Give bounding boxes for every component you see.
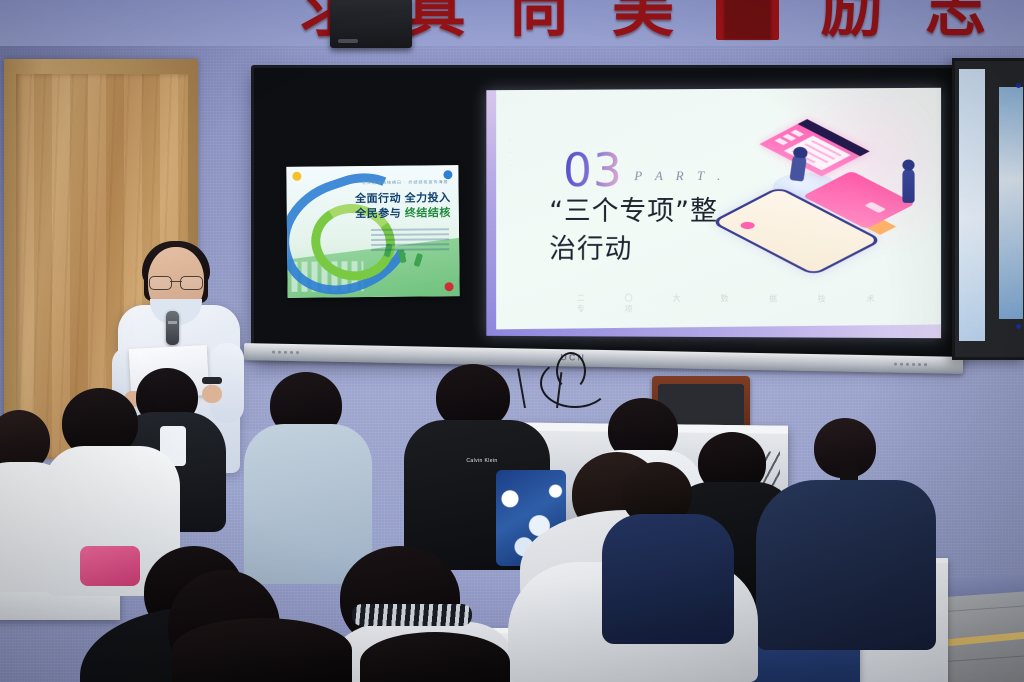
banner-char-5: ■ (716, 0, 779, 40)
tee-logo: Calvin Klein (458, 458, 506, 464)
speaker-grille-left (272, 349, 299, 356)
headphones-around-neck[interactable] (352, 604, 472, 626)
banner-char-4: 美 (612, 0, 674, 40)
classroom-photo-scene: 求 真 尚 美 ■ 励 志 当 (0, 0, 1024, 682)
tuberculosis-awareness-poster: 世界防治结核病日 · 终结结核宣传海报 全面行动 全力投入 全民参与 终结结核 (286, 165, 459, 298)
slide-ghost-text: ··· (508, 134, 513, 173)
banner-char-3: 尚 (508, 0, 570, 40)
illustration-figure-right (902, 169, 914, 203)
banner-char-7: 志 (925, 0, 987, 40)
banner-char-6: 励 (821, 0, 883, 40)
ceiling-speaker-box (330, 0, 412, 48)
secondary-display-panel[interactable] (952, 58, 1024, 360)
illustration-browser-window (759, 119, 869, 176)
poster-title: 全面行动 全力投入 全民参与 终结结核 (355, 191, 451, 222)
banner-char-2: 真 (404, 0, 466, 40)
student-torso (244, 424, 372, 584)
student-torso (756, 480, 936, 650)
secondary-panel-image-left (959, 69, 985, 341)
student-pink-shirt (80, 546, 140, 586)
presentation-slide: ··· 03 P A R T . “三个专项”整 治行动 二 〇 大 数 据 技… (486, 88, 941, 338)
panel-tack-top (1016, 83, 1021, 88)
teacher-hand-right (202, 385, 222, 403)
slide-section-number: 03 (563, 143, 623, 197)
poster-title-line1: 全面行动 全力投入 (355, 191, 451, 207)
poster-dot-yellow (292, 172, 301, 181)
student-head (172, 618, 352, 682)
microphone[interactable] (166, 311, 179, 345)
slide-isometric-illustration (719, 110, 931, 292)
slide-bottom-stripe (486, 325, 941, 339)
poster-title-line2: 全民参与 终结结核 (355, 206, 451, 222)
slide-left-stripe (486, 90, 496, 336)
hanging-cable-curve (556, 352, 586, 390)
slide-footer-text: 二 〇 大 数 据 技 术 专 项 (577, 293, 941, 316)
poster-dot-red (445, 282, 454, 291)
poster-dot-blue (443, 170, 452, 179)
secondary-panel-image-right (999, 87, 1023, 319)
school-motto-banner: 求 真 尚 美 ■ 励 志 当 (0, 0, 1024, 46)
interactive-flat-panel-display[interactable]: 世界防治结核病日 · 终结结核宣传海报 全面行动 全力投入 全民参与 终结结核 … (251, 65, 962, 360)
poster-tiny-header: 世界防治结核病日 · 终结结核宣传海报 (362, 179, 449, 186)
poster-body-lines (371, 225, 449, 254)
slide-part-label: P A R T . (634, 168, 725, 184)
speaker-grille-right (894, 361, 927, 368)
teacher-wristwatch (202, 377, 222, 384)
teacher-glasses (149, 276, 203, 288)
panel-tack-bottom (1016, 324, 1021, 329)
student-torso (602, 514, 734, 644)
